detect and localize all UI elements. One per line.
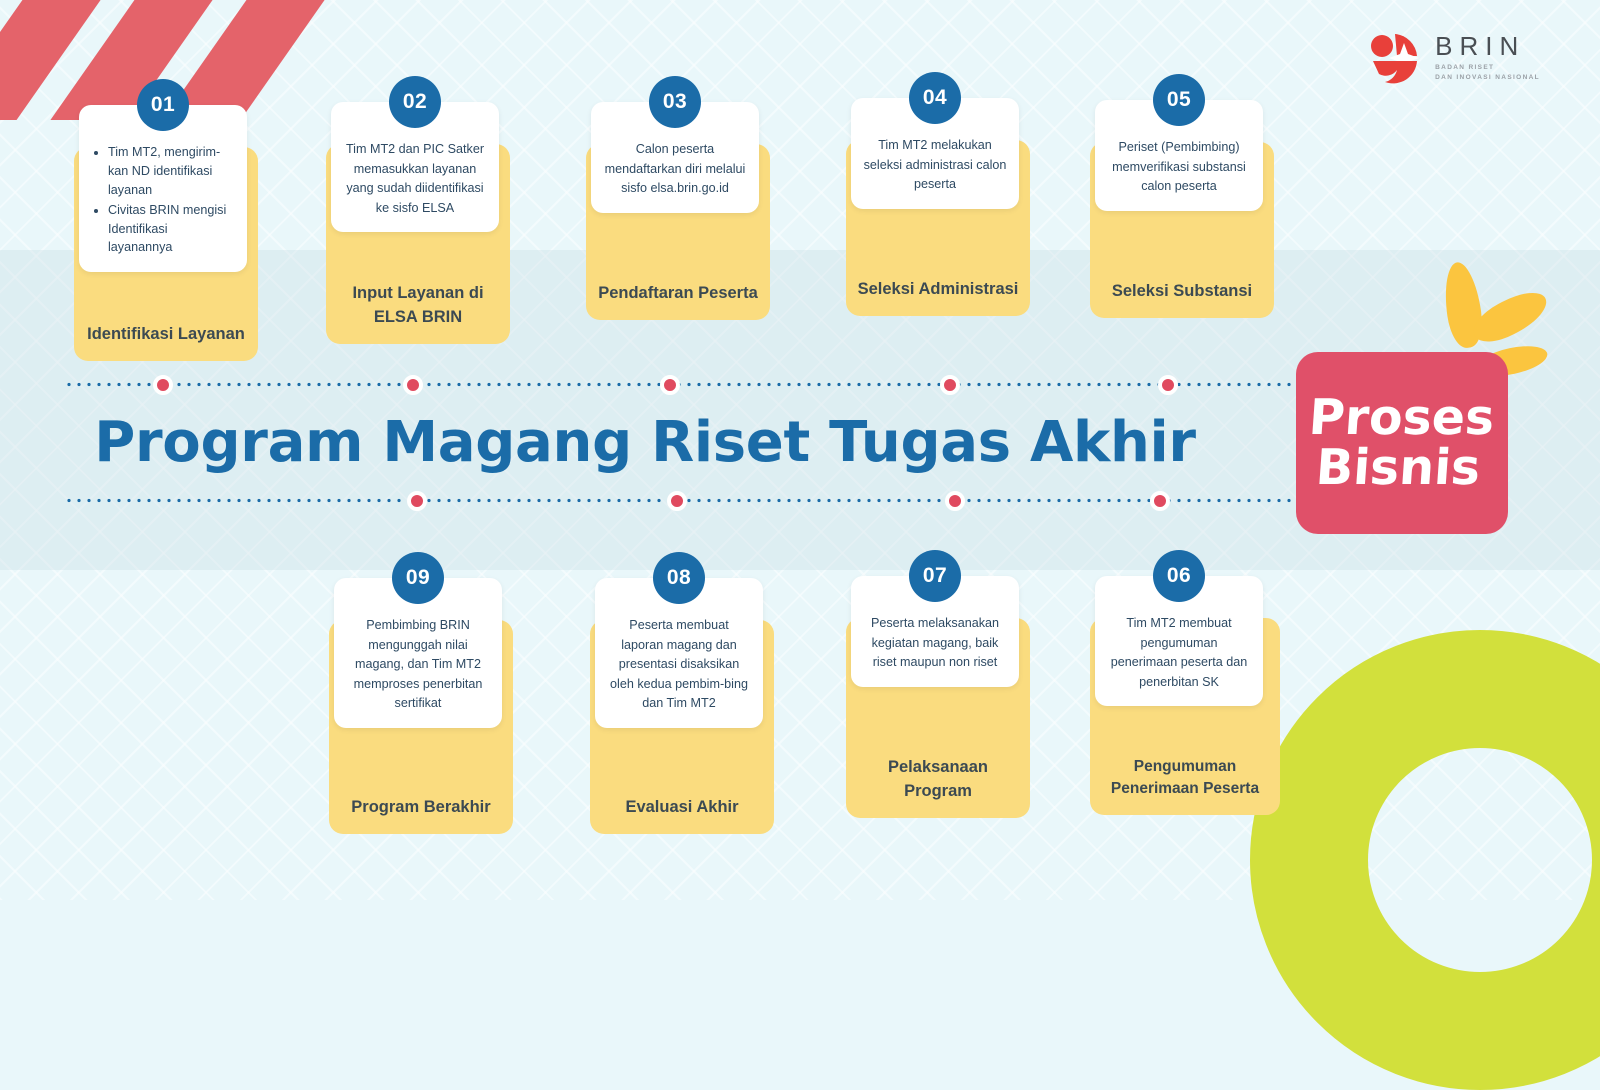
step-card-08-title: Evaluasi Akhir [598,796,766,820]
step-card-02-body: 02 Tim MT2 dan PIC Satker memasukkan lay… [331,102,499,232]
brin-logo-text: BRIN BADAN RISET DAN INOVASI NASIONAL [1435,33,1540,83]
step-card-03-title: Pendaftaran Peserta [594,282,762,306]
step-card-02-text: Tim MT2 dan PIC Satker memasukkan layana… [343,140,487,218]
step-card-02-title: Input Layanan di ELSA BRIN [334,282,502,330]
brin-tagline-line2: DAN INOVASI NASIONAL [1435,73,1540,83]
step-card-09-text: Pembimbing BRIN mengunggah nilai magang,… [346,616,490,714]
brin-wordmark: BRIN [1435,33,1540,59]
proses-bisnis-line1: Proses [1308,393,1497,443]
timeline-dot-top-2[interactable] [403,375,423,395]
step-card-07-body: 07 Peserta melaksanakan kegiatan magang,… [851,576,1019,687]
step-card-03-text: Calon peserta mendaftarkan diri melalui … [603,140,747,199]
step-card-09-number: 09 [392,552,444,604]
list-item: Tim MT2, mengirim-kan ND identifikasi la… [108,143,235,200]
brin-tagline-line1: BADAN RISET [1435,63,1540,73]
list-item: Civitas BRIN mengisi Identifikasi layana… [108,201,235,258]
step-card-05-text: Periset (Pembimbing) memverifikasi subst… [1107,138,1251,197]
step-card-04-title: Seleksi Administrasi [854,278,1022,302]
step-card-04-body: 04 Tim MT2 melakukan seleksi administras… [851,98,1019,209]
timeline-dot-top-5[interactable] [1158,375,1178,395]
step-card-01-number: 01 [137,79,189,131]
step-card-06-number: 06 [1153,550,1205,602]
step-card-05-number: 05 [1153,74,1205,126]
step-card-06-body: 06 Tim MT2 membuat pengumuman penerimaan… [1095,576,1263,706]
timeline-dot-bottom-4[interactable] [1150,491,1170,511]
timeline-dot-bottom-2[interactable] [667,491,687,511]
step-card-05-title: Seleksi Substansi [1098,280,1266,304]
step-card-01-bullet-list: Tim MT2, mengirim-kan ND identifikasi la… [91,143,235,257]
timeline-dot-top-4[interactable] [940,375,960,395]
step-card-03-number: 03 [649,76,701,128]
step-card-06-text: Tim MT2 membuat pengumuman penerimaan pe… [1107,614,1251,692]
step-card-08-body: 08 Peserta membuat laporan magang dan pr… [595,578,763,728]
step-card-04-number: 04 [909,72,961,124]
timeline-dot-bottom-1[interactable] [407,491,427,511]
step-card-07-text: Peserta melaksanakan kegiatan magang, ba… [863,614,1007,673]
proses-bisnis-badge: Proses Bisnis [1296,352,1508,534]
brin-logo-mark [1367,30,1423,86]
page-title: Program Magang Riset Tugas Akhir [0,410,1290,475]
timeline-dot-top-1[interactable] [153,375,173,395]
step-card-08-number: 08 [653,552,705,604]
step-card-09-body: 09 Pembimbing BRIN mengunggah nilai maga… [334,578,502,728]
step-card-04-text: Tim MT2 melakukan seleksi administrasi c… [863,136,1007,195]
brin-logo: BRIN BADAN RISET DAN INOVASI NASIONAL [1367,30,1540,86]
step-card-08-text: Peserta membuat laporan magang dan prese… [607,616,751,714]
timeline-dot-bottom-3[interactable] [945,491,965,511]
step-card-01-title: Identifikasi Layanan [82,323,250,347]
step-card-07-title: Pelaksanaan Program [854,756,1022,804]
step-card-01-body: 01 Tim MT2, mengirim-kan ND identifikasi… [79,105,247,272]
step-card-02-number: 02 [389,76,441,128]
timeline-dot-top-3[interactable] [660,375,680,395]
proses-bisnis-line2: Bisnis [1314,443,1482,493]
step-card-05-body: 05 Periset (Pembimbing) memverifikasi su… [1095,100,1263,211]
step-card-07-number: 07 [909,550,961,602]
step-card-06-title: Pengumuman Penerimaan Peserta [1098,756,1272,801]
step-card-03-body: 03 Calon peserta mendaftarkan diri melal… [591,102,759,213]
step-card-09-title: Program Berakhir [337,796,505,820]
